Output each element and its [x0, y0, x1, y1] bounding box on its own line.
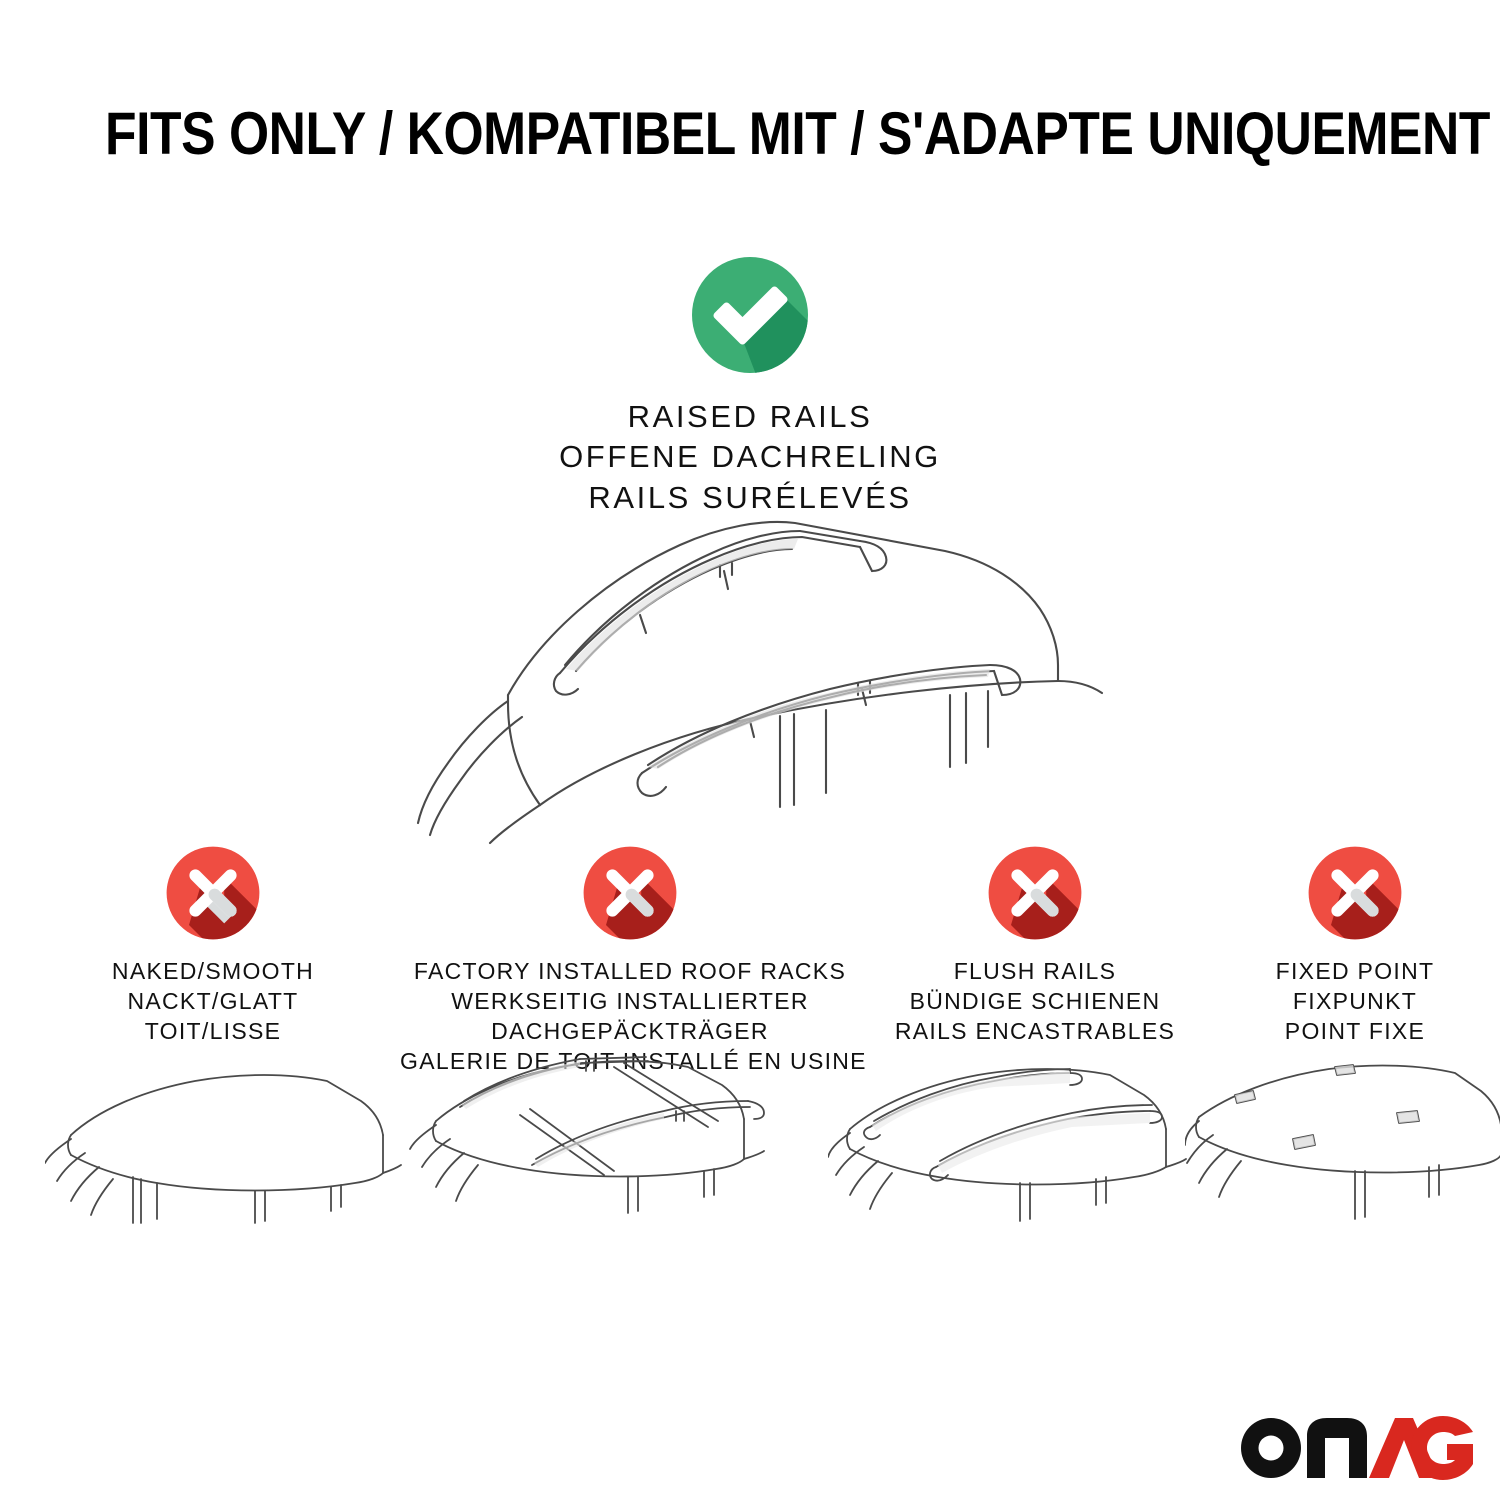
caption-line: FLUSH RAILS: [855, 957, 1215, 987]
not-fits-column-fixed-point: FIXED POINT FIXPUNKT POINT FIXE: [1200, 845, 1500, 1047]
column-caption: FIXED POINT FIXPUNKT POINT FIXE: [1200, 957, 1500, 1047]
column-caption: NAKED/SMOOTH NACKT/GLATT TOIT/LISSE: [33, 957, 393, 1047]
logo-letter-o: [1241, 1418, 1301, 1478]
logo-letter-c: [1411, 1416, 1473, 1480]
caption-line: POINT FIXE: [1200, 1017, 1500, 1047]
caption-line: FIXPUNKT: [1200, 987, 1500, 1017]
car-roof-naked-smooth-diagram: [45, 1055, 405, 1295]
caption-line: BÜNDIGE SCHIENEN: [855, 987, 1215, 1017]
page-title: FITS ONLY / KOMPATIBEL MIT / S'ADAPTE UN…: [105, 104, 1395, 164]
car-roof-factory-roof-racks-diagram: [408, 1055, 778, 1295]
cross-circle-icon: [582, 845, 678, 941]
caption-line: RAISED RAILS: [0, 397, 1500, 437]
caption-line: TOIT/LISSE: [33, 1017, 393, 1047]
check-circle-icon: [690, 255, 810, 375]
car-roof-fixed-point-diagram: [1185, 1055, 1500, 1295]
fits-caption: RAISED RAILS OFFENE DACHRELING RAILS SUR…: [0, 397, 1500, 518]
caption-line: FACTORY INSTALLED ROOF RACKS: [400, 957, 860, 987]
cross-circle-icon: [165, 845, 261, 941]
caption-line: FIXED POINT: [1200, 957, 1500, 987]
car-roof-flush-rails-diagram: [828, 1055, 1198, 1295]
not-fits-column-factory-roof-racks: FACTORY INSTALLED ROOF RACKS WERKSEITIG …: [400, 845, 860, 1077]
caption-line: NAKED/SMOOTH: [33, 957, 393, 987]
fits-section: RAISED RAILS OFFENE DACHRELING RAILS SUR…: [0, 255, 1500, 518]
cross-circle-icon: [987, 845, 1083, 941]
caption-line: DACHGEPÄCKTRÄGER: [400, 1017, 860, 1047]
cross-circle-icon: [1307, 845, 1403, 941]
caption-line: WERKSEITIG INSTALLIERTER: [400, 987, 860, 1017]
caption-line: NACKT/GLATT: [33, 987, 393, 1017]
caption-line: OFFENE DACHRELING: [0, 437, 1500, 477]
not-fits-column-naked-smooth: NAKED/SMOOTH NACKT/GLATT TOIT/LISSE: [33, 845, 393, 1047]
car-roof-raised-rails-diagram: [390, 505, 1110, 845]
caption-line: RAILS ENCASTRABLES: [855, 1017, 1215, 1047]
column-caption: FLUSH RAILS BÜNDIGE SCHIENEN RAILS ENCAS…: [855, 957, 1215, 1047]
not-fits-column-flush-rails: FLUSH RAILS BÜNDIGE SCHIENEN RAILS ENCAS…: [855, 845, 1215, 1047]
logo-letter-m: [1307, 1418, 1367, 1478]
omac-logo: [1235, 1408, 1475, 1480]
